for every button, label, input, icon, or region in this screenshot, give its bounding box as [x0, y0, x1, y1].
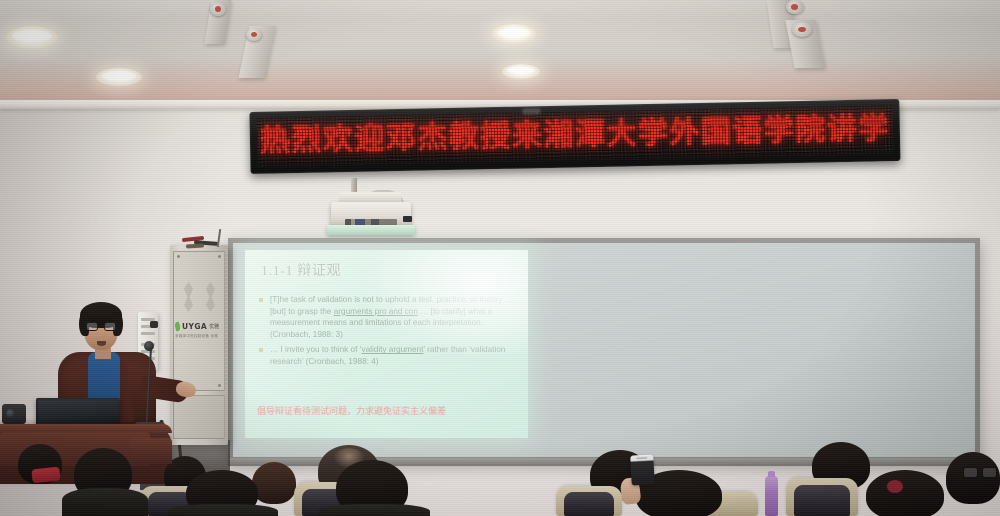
- av-control-cabinet: UYGA 优雅 多媒体中央控制设备 优雅: [170, 245, 228, 445]
- eyeglasses-icon: [963, 467, 997, 478]
- ceiling: [0, 0, 1000, 112]
- hair-tie: [887, 480, 903, 493]
- wall-panel-knob[interactable]: [150, 321, 158, 328]
- audience-head: [252, 462, 296, 504]
- water-bottle: [765, 476, 778, 516]
- led-banner: 热烈欢迎邓杰教授来湘潭大学外国语学院讲学: [249, 99, 900, 174]
- ceiling-recess-strip: [0, 0, 1000, 20]
- auditorium-seat-cushion: [794, 485, 850, 516]
- led-panel: 热烈欢迎邓杰教授来湘潭大学外国语学院讲学: [256, 105, 893, 167]
- cabinet-brand-text: UYGA: [182, 322, 207, 331]
- downlight-icon: [6, 26, 58, 49]
- cabinet-decor-motif: [184, 282, 193, 312]
- lecture-hall-photo: 热烈欢迎邓杰教授来湘潭大学外国语学院讲学 1.1-1 辩证观 [T]he tas…: [0, 0, 1000, 516]
- cabinet-brand-text-cn: 优雅: [209, 323, 219, 330]
- audience-shoulders: [62, 488, 148, 516]
- slide-body: [T]he task of validation is not to uphol…: [257, 294, 518, 372]
- audience-shoulders: [168, 504, 278, 516]
- audience-scarf: [31, 467, 60, 484]
- downlight-icon: [96, 68, 142, 86]
- projector-knob: [403, 216, 412, 222]
- mobile-phone[interactable]: [630, 454, 655, 485]
- cabinet-decor-motif: [206, 282, 215, 312]
- microphone-icon: [144, 341, 154, 351]
- seat-back-panel: [130, 438, 172, 464]
- sprinkler-head-icon: [792, 22, 812, 37]
- eyeglasses-icon: [86, 322, 116, 331]
- slide-title: 1.1-1 辩证观: [261, 260, 341, 280]
- ceiling-projector: [325, 192, 417, 242]
- desk-device-lens-icon: [6, 409, 15, 418]
- audience-head: [946, 452, 1000, 504]
- slide-bullet-1: [T]he task of validation is not to uphol…: [257, 294, 518, 340]
- audience-head: [866, 470, 944, 516]
- cabinet-vent: [224, 255, 227, 385]
- led-banner-text: 热烈欢迎邓杰教授来湘潭大学外国语学院讲学: [260, 114, 890, 157]
- slide-bullet-2-pre: … I invite you to think of ‘: [270, 345, 361, 354]
- downlight-icon: [502, 64, 540, 79]
- cabinet-model-line: 多媒体中央控制设备 优雅: [175, 334, 223, 339]
- leaf-icon: [174, 321, 182, 331]
- sprinkler-head-icon: [210, 2, 226, 16]
- projected-slide: 1.1-1 辩证观 [T]he task of validation is no…: [245, 250, 528, 438]
- audience-shoulders: [318, 504, 430, 516]
- projector-lens-plate: [327, 225, 415, 235]
- slide-footer-note: 倡导辩证看待测试问题，力求避免证实主义偏差: [257, 405, 520, 417]
- sprinkler-head-icon: [246, 28, 262, 41]
- presenter-mouth: [97, 341, 106, 346]
- sprinkler-head-icon: [786, 0, 804, 14]
- slide-bullet-1-underlined: arguments pro and con: [334, 307, 418, 316]
- led-specular-highlight: [522, 108, 540, 114]
- auditorium-seat-cushion: [564, 492, 614, 516]
- cabinet-brand-logo: UYGA 优雅: [175, 320, 223, 333]
- slide-bullet-2: … I invite you to think of ‘validity arg…: [257, 344, 518, 367]
- downlight-icon: [492, 24, 536, 44]
- slide-bullet-2-underlined: validity argument: [361, 345, 423, 354]
